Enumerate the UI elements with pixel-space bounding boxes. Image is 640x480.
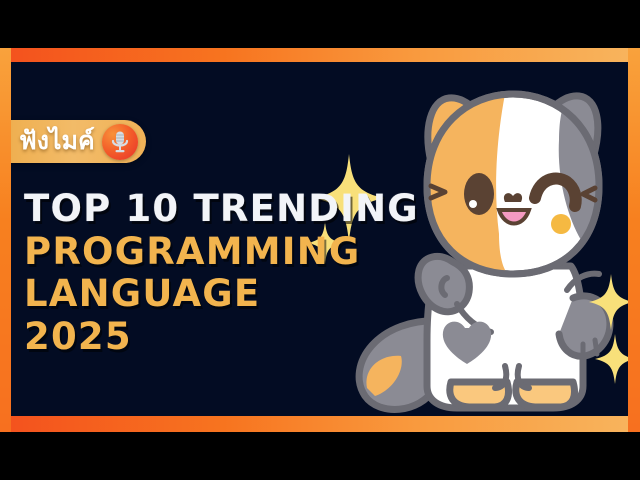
channel-badge-label: ฟังไมค์ (19, 128, 95, 155)
microphone-glyph (109, 130, 131, 154)
frame-left-bar (0, 48, 11, 432)
frame-top-bar (0, 48, 640, 62)
channel-badge[interactable]: ฟังไมค์ (11, 120, 146, 163)
microphone-icon (102, 124, 138, 160)
video-screenshot: ฟังไมค์ TOP 10 TRENDING PROGRAMMING LANG… (0, 0, 640, 480)
frame-bottom-bar (0, 416, 640, 432)
headline-block: TOP 10 TRENDING PROGRAMMING LANGUAGE 202… (24, 189, 454, 359)
headline-line-2: PROGRAMMING (24, 232, 454, 271)
headline-line-3: LANGUAGE (24, 274, 454, 313)
headline-line-4: 2025 (24, 317, 454, 356)
sparkle-icon-right-bottom (595, 334, 628, 384)
headline-line-1: TOP 10 TRENDING (24, 189, 454, 228)
sparkle-icon-right-top (589, 274, 628, 330)
thumbnail-stage: ฟังไมค์ TOP 10 TRENDING PROGRAMMING LANG… (11, 62, 628, 416)
orange-video-frame: ฟังไมค์ TOP 10 TRENDING PROGRAMMING LANG… (0, 48, 640, 432)
frame-right-bar (628, 48, 640, 432)
